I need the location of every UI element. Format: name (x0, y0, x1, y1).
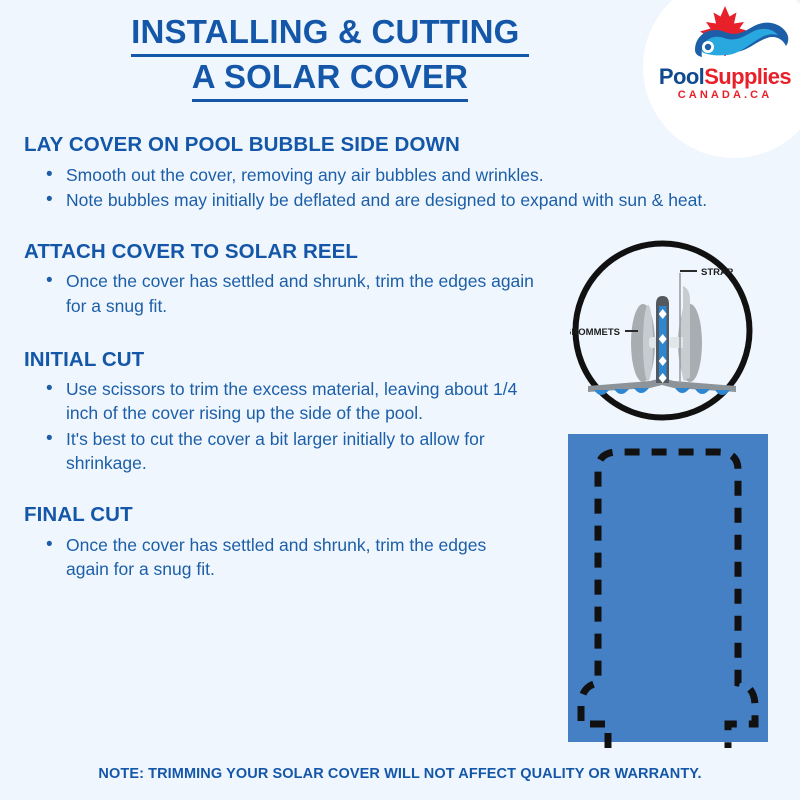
list-item: Smooth out the cover, removing any air b… (46, 163, 752, 187)
pool-cut-diagram (560, 428, 776, 748)
footer-note: NOTE: TRIMMING YOUR SOLAR COVER WILL NOT… (0, 766, 800, 782)
page-title-line-1: INSTALLING & CUTTING (131, 12, 529, 57)
list-item: Note bubbles may initially be deflated a… (46, 188, 752, 212)
strap-label: STRAP (701, 267, 734, 278)
grommet-shaft-right-icon (669, 337, 685, 348)
page-title: INSTALLING & CUTTING A SOLAR COVER (20, 12, 640, 102)
section-heading: LAY COVER ON POOL BUBBLE SIDE DOWN (24, 133, 752, 158)
logo-wordmark: PoolSupplies (655, 66, 795, 88)
logo-wordmark-pool: Pool (659, 64, 704, 89)
logo-wordmark-supplies: Supplies (704, 64, 791, 89)
logo-swirl-dot-icon (705, 44, 711, 50)
bullet-list: Smooth out the cover, removing any air b… (22, 163, 752, 212)
header: INSTALLING & CUTTING A SOLAR COVER PoolS… (0, 0, 800, 122)
grommet-strap-diagram: GROMMETS STRAP (570, 238, 755, 423)
list-item: Once the cover has settled and shrunk, t… (46, 533, 518, 581)
strap-shape-icon (683, 286, 690, 380)
list-item: Use scissors to trim the excess material… (46, 377, 538, 425)
brand-logo[interactable]: PoolSupplies CANADA.CA (655, 4, 795, 114)
section-lay-cover: LAY COVER ON POOL BUBBLE SIDE DOWN Smoot… (22, 133, 752, 212)
page-title-line-2: A SOLAR COVER (192, 57, 468, 102)
list-item: It's best to cut the cover a bit larger … (46, 427, 538, 475)
grommets-label: GROMMETS (570, 327, 620, 338)
logo-subtitle: CANADA.CA (655, 90, 795, 101)
list-item: Once the cover has settled and shrunk, t… (46, 269, 538, 317)
